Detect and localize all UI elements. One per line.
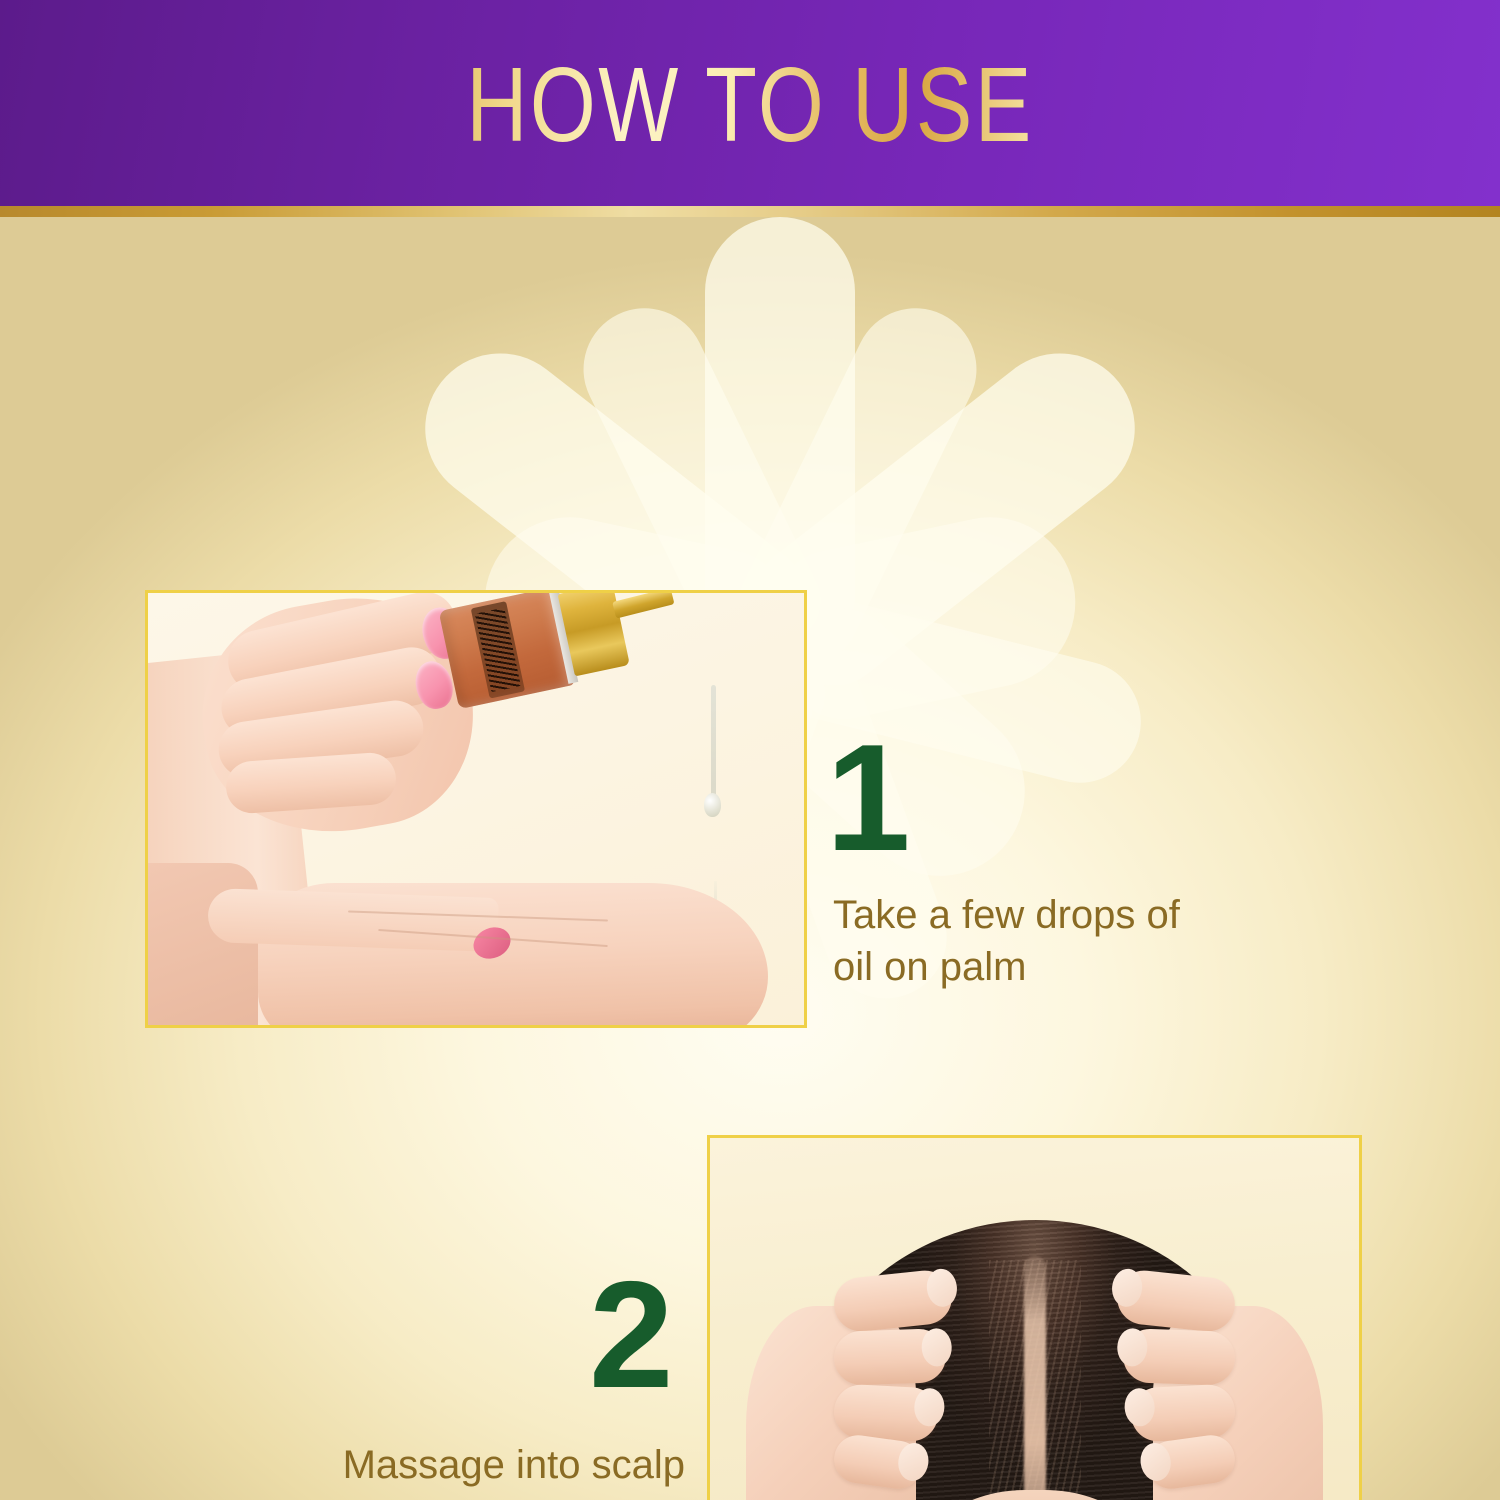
finger xyxy=(1115,1268,1238,1334)
step-2-photo-frame xyxy=(707,1135,1362,1500)
palm-fingers xyxy=(207,888,499,952)
page-title: HOW TO USE xyxy=(150,50,1350,160)
oil-droplet xyxy=(704,793,721,817)
fingernail xyxy=(1124,1388,1156,1428)
hair-parting xyxy=(1024,1256,1046,1500)
how-to-use-infographic: HOW TO USE xyxy=(0,0,1500,1500)
gold-divider-band xyxy=(0,206,1500,217)
header-banner: HOW TO USE xyxy=(0,0,1500,206)
step-1-description: Take a few drops of oil on palm xyxy=(833,889,1353,993)
left-hand xyxy=(746,1246,956,1500)
woman-massaging-oil-into-scalp-image xyxy=(710,1138,1359,1500)
step-2-number: 2 xyxy=(589,1259,674,1411)
finger xyxy=(1122,1328,1236,1386)
step-2-description: Massage into scalp & hair, leave overnig… xyxy=(180,1439,685,1500)
hand-pouring-oil-bottle-onto-palm-image xyxy=(148,593,804,1025)
lower-forearm xyxy=(148,863,258,1025)
finger xyxy=(1130,1383,1237,1442)
fingernail xyxy=(925,1267,959,1308)
step-1-photo-frame xyxy=(145,590,807,1028)
fingernail xyxy=(921,1328,952,1367)
fingernail xyxy=(1117,1328,1148,1367)
finger xyxy=(833,1328,947,1386)
oil-stream xyxy=(711,685,716,803)
fingernail xyxy=(1138,1441,1173,1483)
finger xyxy=(832,1268,955,1334)
content-background: 1 Take a few drops of oil on palm 2 Mass… xyxy=(0,217,1500,1500)
right-hand xyxy=(1113,1246,1323,1500)
fingernail xyxy=(1110,1267,1144,1308)
fingernail xyxy=(913,1388,945,1428)
fingernail xyxy=(896,1441,931,1483)
finger xyxy=(833,1383,940,1442)
step-1-number: 1 xyxy=(826,722,911,874)
